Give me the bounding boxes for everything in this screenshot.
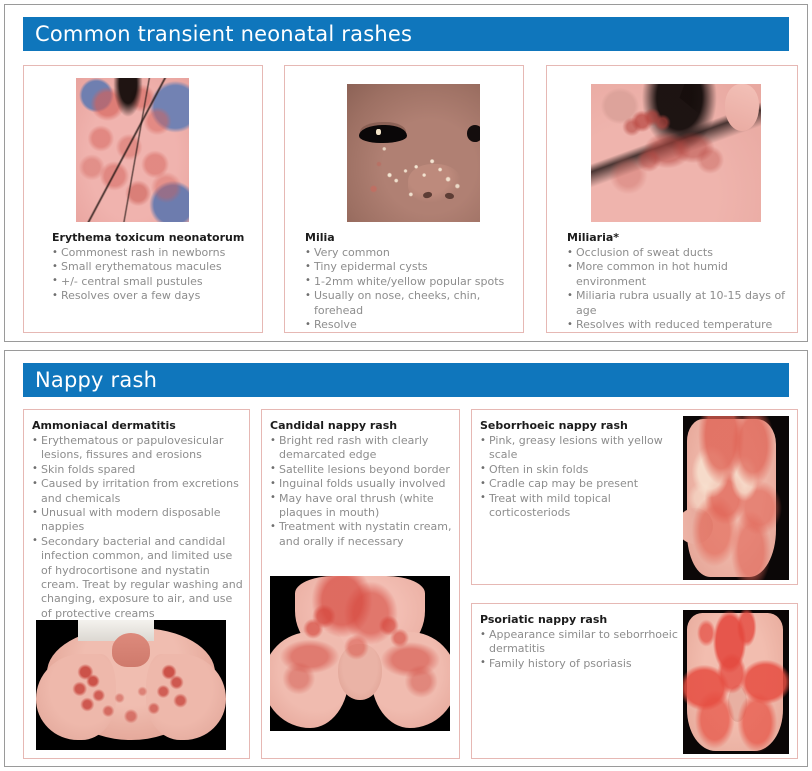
list-item: Resolves over a few days <box>52 289 254 303</box>
miliaria-photo <box>591 84 761 222</box>
list-item: Often in skin folds <box>480 463 685 477</box>
list-item: Small erythematous macules <box>52 260 254 274</box>
list-item: Family history of psoriasis <box>480 657 685 671</box>
list-item: Resolve <box>305 318 515 332</box>
section-header-transient: Common transient neonatal rashes <box>23 17 789 51</box>
card-candidal-nappy-rash: Candidal nappy rash Bright red rash with… <box>261 409 460 759</box>
list-item: +/- central small pustules <box>52 275 254 289</box>
card-bullet-list: Occlusion of sweat ducts More common in … <box>567 246 791 332</box>
card-psoriatic-nappy-rash: Psoriatic nappy rash Appearance similar … <box>471 603 798 759</box>
candidal-nappy-rash-photo <box>270 576 450 731</box>
list-item: Miliaria rubra usually at 10-15 days of … <box>567 289 791 318</box>
section-nappy-rash: Nappy rash Ammoniacal dermatitis Erythem… <box>4 350 808 767</box>
card-bullet-list: Erythematous or papulovesicular lesions,… <box>32 434 243 621</box>
card-miliaria: Miliaria* Occlusion of sweat ducts More … <box>546 65 798 333</box>
list-item: Commonest rash in newborns <box>52 246 254 260</box>
card-bullet-list: Very common Tiny epidermal cysts 1-2mm w… <box>305 246 515 332</box>
milia-photo <box>347 84 480 222</box>
card-erythema-toxicum: Erythema toxicum neonatorum Commonest ra… <box>23 65 263 333</box>
list-item: More common in hot humid environment <box>567 260 791 289</box>
ammoniacal-dermatitis-photo <box>36 620 226 750</box>
card-bullet-list: Bright red rash with clearly demarcated … <box>270 434 453 549</box>
list-item: Cradle cap may be present <box>480 477 685 491</box>
card-bullet-list: Commonest rash in newborns Small erythem… <box>52 246 254 304</box>
card-heading: Psoriatic nappy rash <box>480 612 685 627</box>
erythema-toxicum-photo <box>76 78 189 222</box>
list-item: Skin folds spared <box>32 463 243 477</box>
list-item: Secondary bacterial and candidal infecti… <box>32 535 243 621</box>
section-title: Common transient neonatal rashes <box>23 22 412 46</box>
card-heading: Erythema toxicum neonatorum <box>52 230 254 245</box>
list-item: Pink, greasy lesions with yellow scale <box>480 434 685 463</box>
card-seborrhoeic-nappy-rash: Seborrhoeic nappy rash Pink, greasy lesi… <box>471 409 798 585</box>
list-item: Appearance similar to seborrhoeic dermat… <box>480 628 685 657</box>
list-item: Treat with mild topical corticosteriods <box>480 492 685 521</box>
card-bullet-list: Appearance similar to seborrhoeic dermat… <box>480 628 685 671</box>
card-heading: Miliaria* <box>567 230 791 245</box>
card-heading: Seborrhoeic nappy rash <box>480 418 685 433</box>
list-item: Treatment with nystatin cream, and orall… <box>270 520 453 549</box>
list-item: Very common <box>305 246 515 260</box>
list-item: May have oral thrush (white plaques in m… <box>270 492 453 521</box>
list-item: Resolves with reduced temperature <box>567 318 791 332</box>
card-heading: Candidal nappy rash <box>270 418 453 433</box>
card-ammoniacal-dermatitis: Ammoniacal dermatitis Erythematous or pa… <box>23 409 250 759</box>
list-item: Bright red rash with clearly demarcated … <box>270 434 453 463</box>
card-milia: Milia Very common Tiny epidermal cysts 1… <box>284 65 524 333</box>
list-item: Erythematous or papulovesicular lesions,… <box>32 434 243 463</box>
card-bullet-list: Pink, greasy lesions with yellow scale O… <box>480 434 685 520</box>
psoriatic-nappy-rash-photo <box>683 610 789 754</box>
section-transient-rashes: Common transient neonatal rashes Erythem… <box>4 4 808 342</box>
poster-page: Common transient neonatal rashes Erythem… <box>0 0 812 771</box>
list-item: Unusual with modern disposable nappies <box>32 506 243 535</box>
seborrhoeic-nappy-rash-photo <box>683 416 789 580</box>
list-item: Inguinal folds usually involved <box>270 477 453 491</box>
section-header-nappy: Nappy rash <box>23 363 789 397</box>
list-item: Usually on nose, cheeks, chin, forehead <box>305 289 515 318</box>
list-item: 1-2mm white/yellow popular spots <box>305 275 515 289</box>
list-item: Caused by irritation from excretions and… <box>32 477 243 506</box>
list-item: Satellite lesions beyond border <box>270 463 453 477</box>
section-title: Nappy rash <box>23 368 157 392</box>
card-heading: Ammoniacal dermatitis <box>32 418 243 433</box>
card-heading: Milia <box>305 230 515 245</box>
list-item: Tiny epidermal cysts <box>305 260 515 274</box>
list-item: Occlusion of sweat ducts <box>567 246 791 260</box>
